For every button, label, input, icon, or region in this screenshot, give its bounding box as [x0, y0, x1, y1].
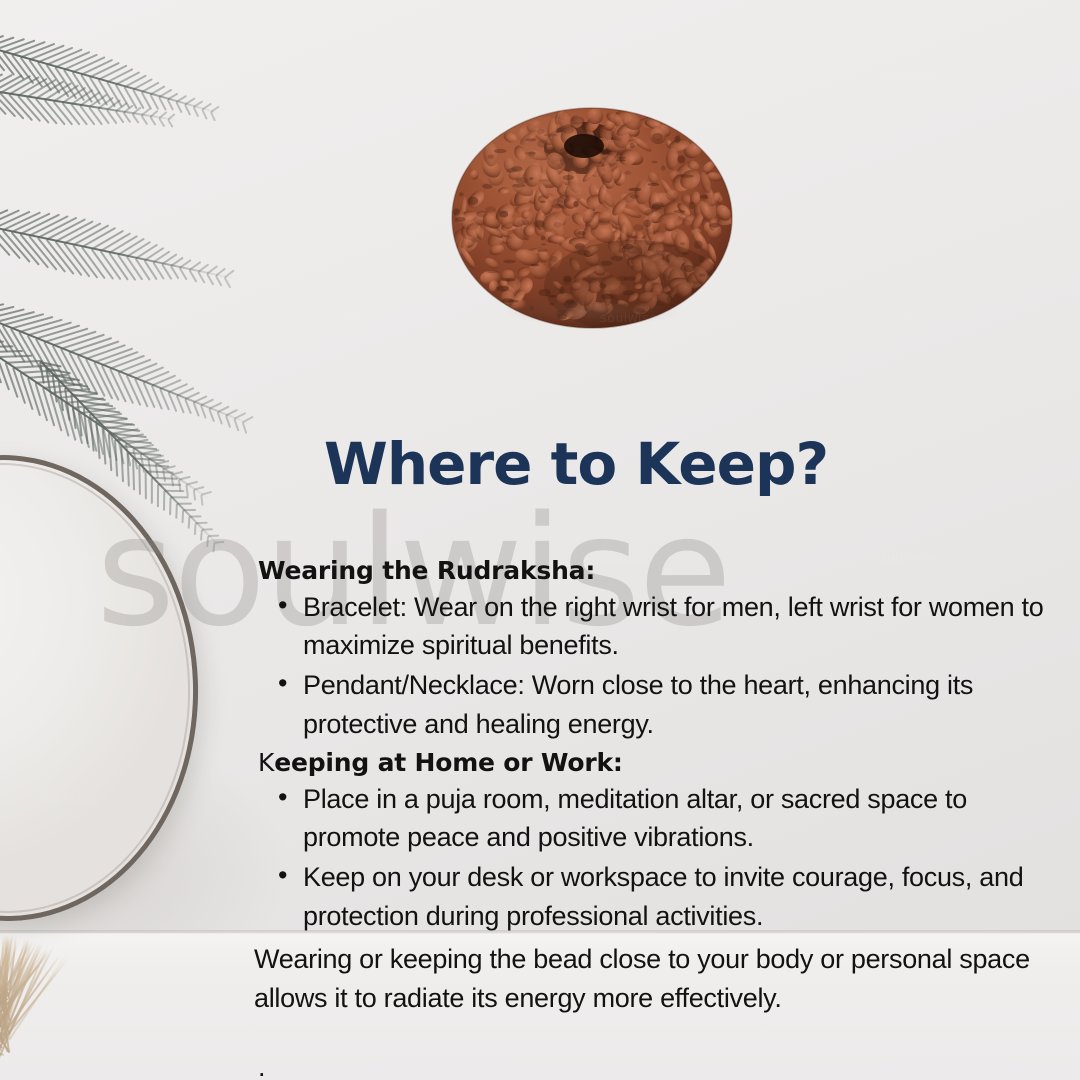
- tile-watermark-mark: soulwise: [880, 70, 938, 85]
- tile-watermark-mark: soulwise: [40, 1030, 98, 1045]
- page-title: Where to Keep?: [0, 434, 1080, 495]
- section-heading-keeping: Keeping at Home or Work:: [258, 748, 1070, 778]
- tile-watermark-mark: soulwise: [880, 310, 938, 325]
- trailing-period: .: [258, 1048, 1070, 1080]
- closing-paragraph: Wearing or keeping the bead close to you…: [254, 940, 1070, 1018]
- bullet-list-keeping: Place in a puja room, meditation altar, …: [250, 780, 1070, 937]
- tile-watermark-mark: soulwise: [40, 310, 98, 325]
- tile-watermark-mark: soulwise: [40, 550, 98, 565]
- tile-watermark-mark: soulwise: [40, 790, 98, 805]
- section-heading-lead-1: K: [258, 748, 274, 777]
- tile-watermark-mark: soulwise: [320, 310, 378, 325]
- content-body: Wearing the Rudraksha: Bracelet: Wear on…: [250, 556, 1070, 1080]
- page-title-text: Where to Keep?: [324, 430, 828, 498]
- list-item: Pendant/Necklace: Worn close to the hear…: [250, 666, 1070, 744]
- section-heading-text-1: eeping at Home or Work:: [274, 748, 623, 777]
- list-item: Place in a puja room, meditation altar, …: [250, 780, 1070, 858]
- tile-watermark-mark: soulwise: [600, 70, 658, 85]
- bullet-list-wearing: Bracelet: Wear on the right wrist for me…: [250, 588, 1070, 745]
- section-heading-text-0: Wearing the Rudraksha:: [258, 556, 595, 585]
- section-heading-wearing: Wearing the Rudraksha:: [258, 556, 1070, 586]
- tile-watermark-mark: soulwise: [40, 70, 98, 85]
- list-item: Bracelet: Wear on the right wrist for me…: [250, 588, 1070, 666]
- poster-canvas: soulwisesoulwisesoulwisesoulwisesoulwise…: [0, 0, 1080, 1080]
- tile-watermark-mark: soulwise: [600, 310, 658, 325]
- tile-watermark-mark: soulwise: [320, 70, 378, 85]
- list-item: Keep on your desk or workspace to invite…: [250, 858, 1070, 936]
